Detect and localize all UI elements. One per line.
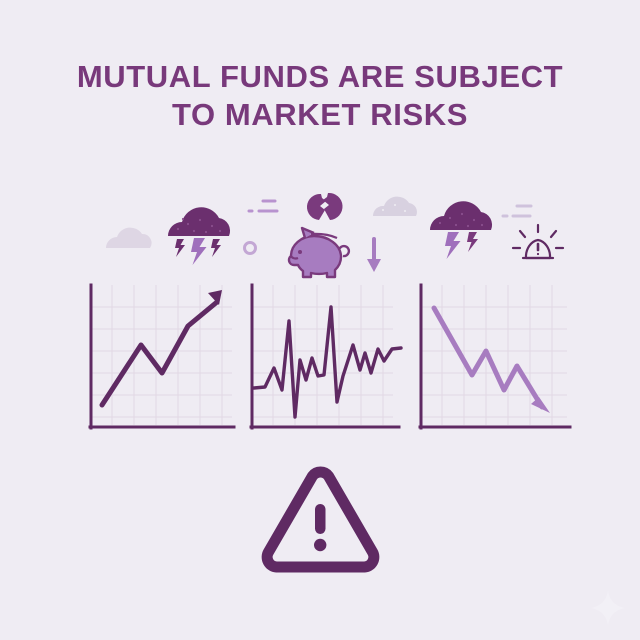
panel-volatile-market-chart — [243, 280, 408, 440]
lightning-bolt-icon — [445, 232, 478, 259]
panel-rising-market-chart — [82, 280, 247, 440]
chart-line-volatile — [254, 307, 401, 417]
ring-icon — [245, 243, 256, 254]
panel-falling-market — [412, 180, 577, 445]
down-arrow-icon — [367, 239, 381, 272]
alarm-bell-icon — [513, 225, 563, 258]
panel-volatile-market-art — [243, 180, 408, 285]
charts-row — [0, 180, 640, 445]
title-line-1: MUTUAL FUNDS ARE SUBJECT — [0, 58, 640, 96]
dash-lines-icon — [249, 201, 277, 211]
storm-cloud-icon — [168, 207, 230, 236]
diamond-star-watermark — [590, 590, 626, 626]
broken-coin-icon — [307, 193, 343, 220]
dash-lines-icon — [503, 206, 531, 216]
poster-canvas: MUTUAL FUNDS ARE SUBJECT TO MARKET RISKS — [0, 0, 640, 640]
piggy-bank-icon — [289, 228, 349, 277]
chart-grid — [420, 285, 567, 425]
small-cloud-icon — [106, 228, 152, 248]
small-cloud-icon — [373, 197, 417, 216]
page-title: MUTUAL FUNDS ARE SUBJECT TO MARKET RISKS — [0, 58, 640, 134]
exclamation-bar — [315, 504, 326, 534]
panel-volatile-market — [243, 180, 408, 445]
panel-rising-market — [82, 180, 247, 445]
warning-triangle-icon — [258, 466, 383, 578]
title-line-2: TO MARKET RISKS — [0, 96, 640, 134]
panel-falling-market-art — [412, 180, 577, 285]
storm-cloud-icon — [430, 201, 492, 230]
panel-falling-market-chart — [412, 280, 577, 440]
panel-rising-market-art — [82, 180, 247, 285]
lightning-bolt-icon — [175, 238, 221, 265]
exclamation-dot — [314, 539, 326, 551]
chart-grid — [251, 285, 393, 425]
chart-line-falling — [434, 308, 550, 413]
